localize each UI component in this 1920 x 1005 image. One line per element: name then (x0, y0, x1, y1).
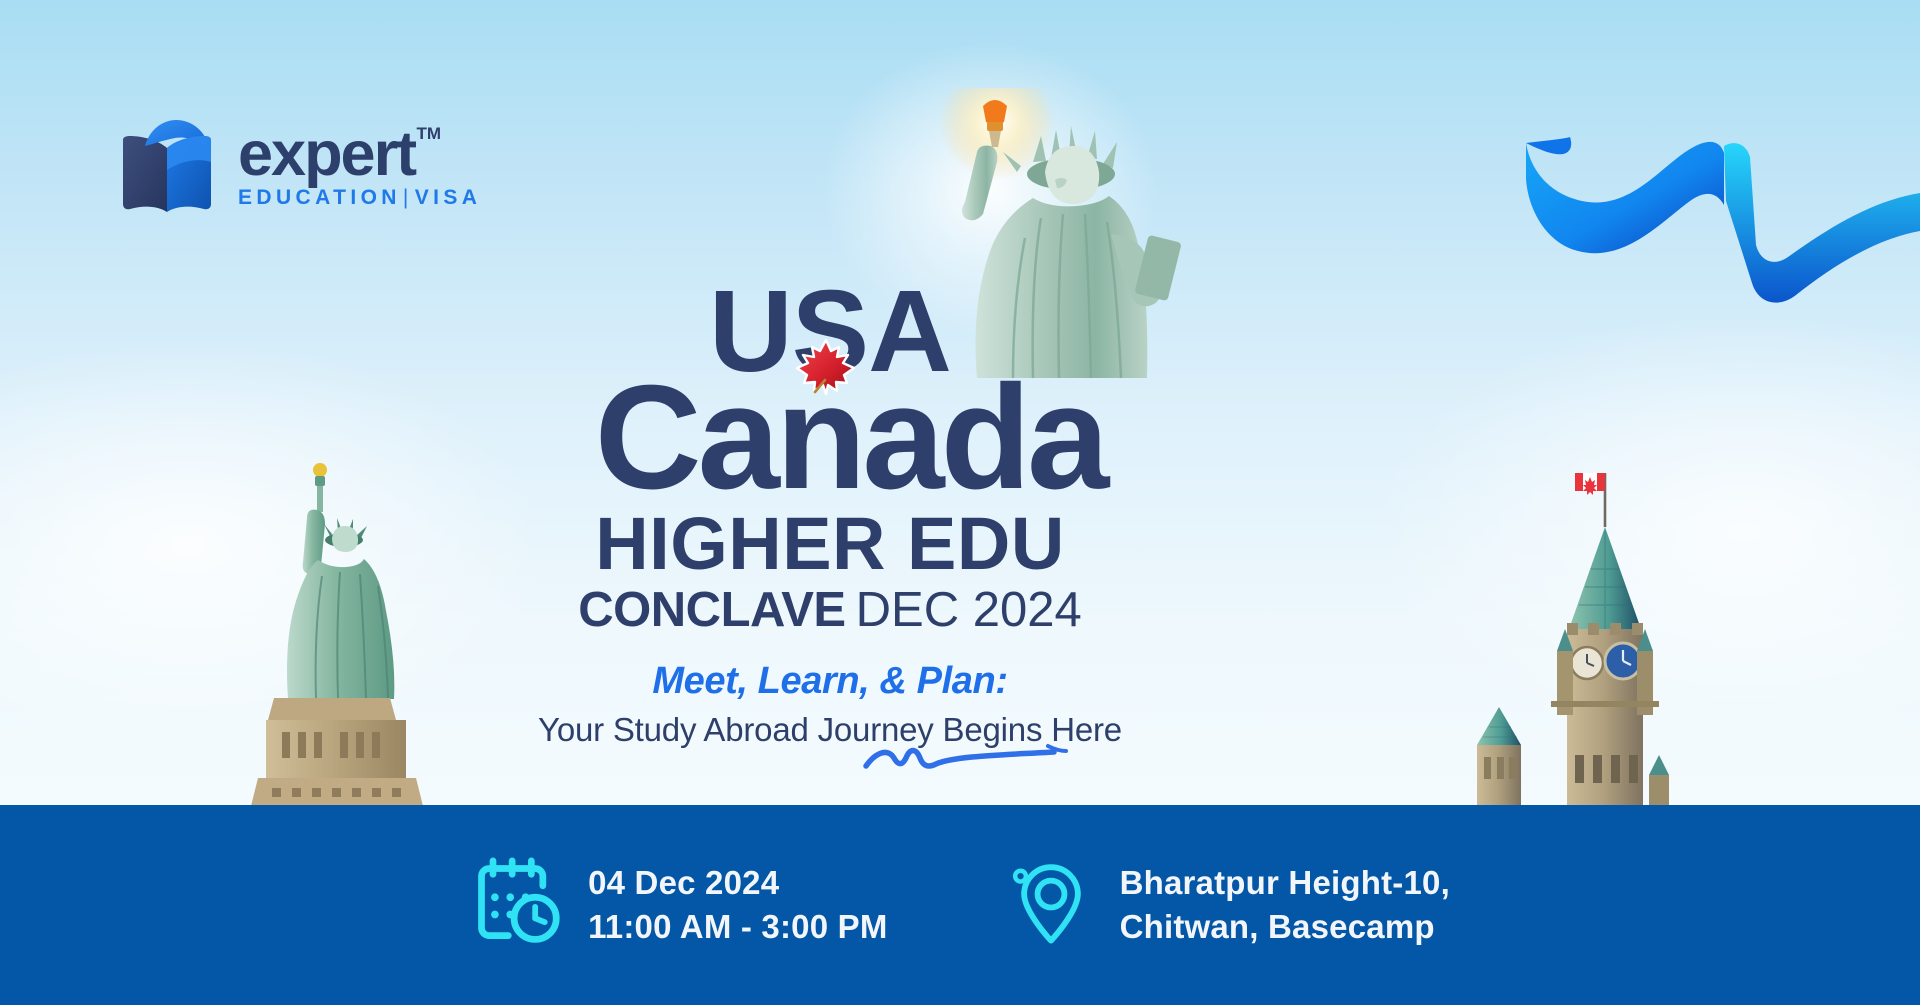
logo-subtitle-education: EDUCATION (238, 186, 401, 209)
venue-line-2: Chitwan, Basecamp (1120, 905, 1450, 949)
brand-logo[interactable]: expert TM EDUCATION|VISA (120, 118, 481, 214)
headline-canada: Canada (0, 374, 1810, 501)
hand-drawn-squiggle-underline-icon (862, 742, 1072, 776)
logo-subtitle: EDUCATION|VISA (238, 186, 481, 210)
date-time-text: 04 Dec 2024 11:00 AM - 3:00 PM (588, 861, 888, 949)
canadian-parliament-peace-tower-photo (1445, 455, 1695, 810)
maple-leaf-icon (795, 336, 857, 398)
headline-conclave: CONCLAVE (578, 583, 845, 637)
blue-wave-ribbon-icon (1520, 105, 1920, 305)
logo-subtitle-visa: VISA (415, 186, 482, 209)
logo-wordmark: expert TM EDUCATION|VISA (238, 118, 481, 210)
venue-line-1: Bharatpur Height-10, (1120, 861, 1450, 905)
trademark-symbol: TM (417, 126, 442, 142)
venue-text: Bharatpur Height-10, Chitwan, Basecamp (1120, 861, 1450, 949)
logo-subtitle-separator: | (401, 186, 415, 209)
open-book-logo-icon (120, 118, 224, 214)
map-pin-icon (1008, 860, 1094, 951)
headline-month-year: DEC 2024 (856, 583, 1082, 637)
location-info: Bharatpur Height-10, Chitwan, Basecamp (1008, 860, 1450, 951)
event-info-bar: 04 Dec 2024 11:00 AM - 3:00 PM Bharatpur… (0, 805, 1920, 1005)
logo-word-text: expert (238, 119, 415, 189)
event-time: 11:00 AM - 3:00 PM (588, 905, 888, 949)
event-banner: expert TM EDUCATION|VISA (0, 0, 1920, 1005)
calendar-clock-icon (470, 857, 562, 954)
date-time-info: 04 Dec 2024 11:00 AM - 3:00 PM (470, 857, 888, 954)
event-date: 04 Dec 2024 (588, 861, 888, 905)
